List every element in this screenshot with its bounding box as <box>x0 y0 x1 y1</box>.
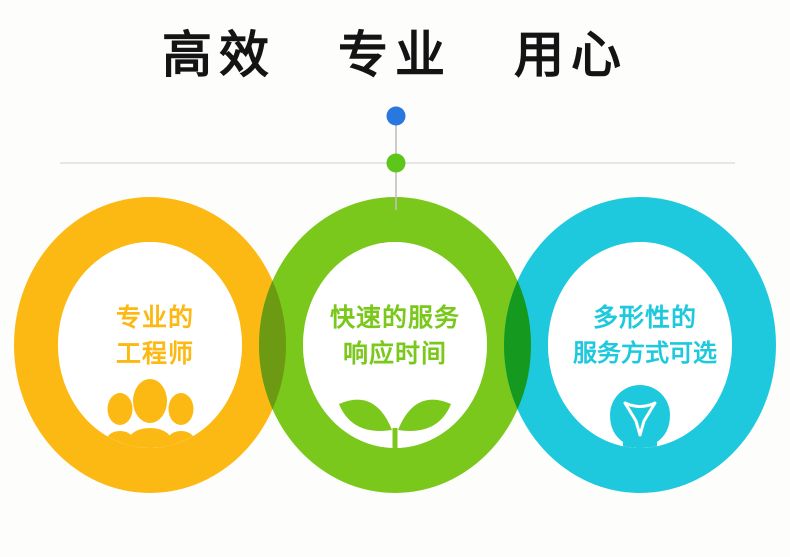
headline: 高效 专业 用心 <box>0 30 790 80</box>
headline-word-2: 专业 <box>338 30 452 80</box>
hole-middle <box>303 242 487 448</box>
headline-word-3: 用心 <box>514 30 628 80</box>
infographic-canvas: 高效 专业 用心 <box>0 0 790 557</box>
headline-word-1: 高效 <box>162 30 276 80</box>
